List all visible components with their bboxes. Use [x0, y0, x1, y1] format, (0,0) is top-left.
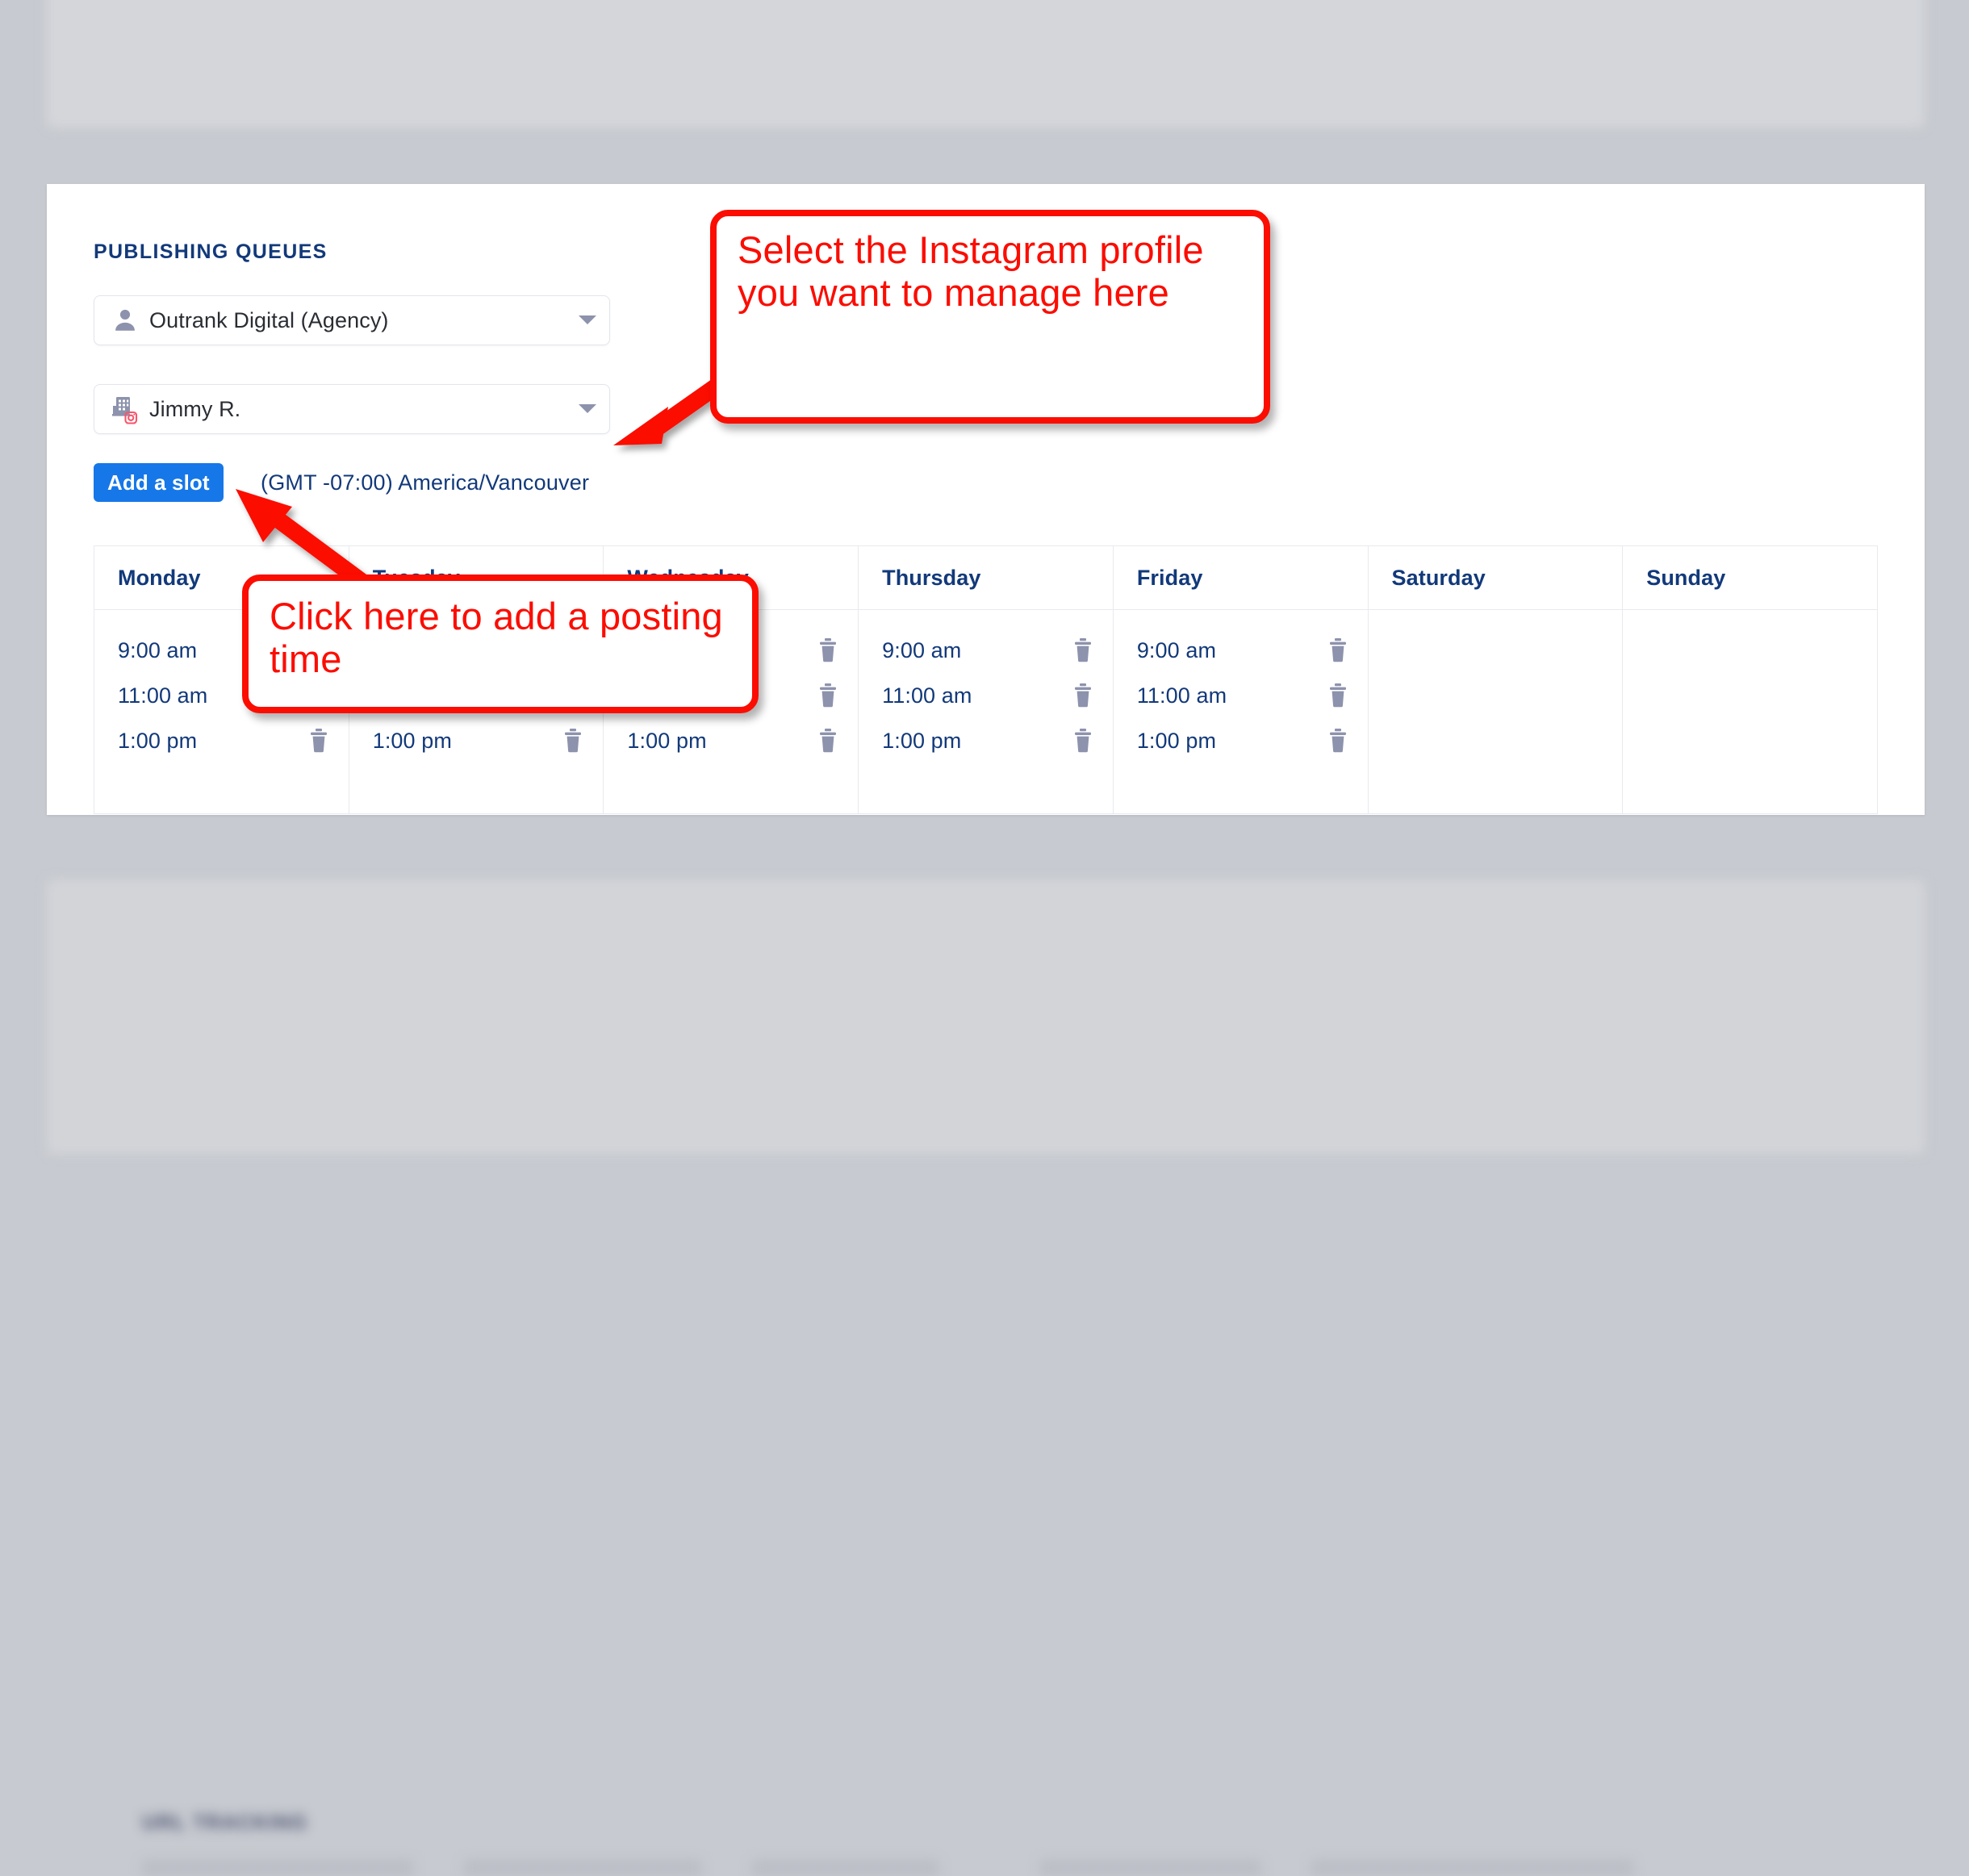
day-cell-sunday — [1623, 610, 1878, 814]
trash-icon[interactable] — [1326, 638, 1350, 662]
trash-icon[interactable] — [816, 638, 840, 662]
building-instagram-icon — [101, 393, 149, 425]
trash-icon[interactable] — [1326, 729, 1350, 753]
column-header-saturday: Saturday — [1368, 546, 1623, 610]
person-icon — [101, 307, 149, 334]
slot-time-label: 1:00 pm — [1137, 729, 1326, 754]
chevron-down-icon[interactable] — [566, 403, 609, 415]
background-card-bottom: URL TRACKING — [47, 880, 1925, 1154]
schedule-slot: 1:00 pm — [349, 718, 604, 763]
background-card-top: Save settings — [47, 0, 1925, 127]
schedule-slot: 1:00 pm — [1114, 718, 1368, 763]
url-tracking-title: URL TRACKING — [142, 1811, 307, 1835]
slot-time-label: 11:00 am — [882, 683, 1071, 708]
schedule-slot: 9:00 am — [1114, 628, 1368, 673]
trash-icon[interactable] — [816, 729, 840, 753]
schedule-slot: 9:00 am — [859, 628, 1113, 673]
slot-time-label: 1:00 pm — [627, 729, 816, 754]
trash-icon[interactable] — [561, 729, 585, 753]
slot-time-label: 9:00 am — [882, 638, 1071, 663]
schedule-slot: 11:00 am — [1114, 673, 1368, 718]
schedule-slot: 1:00 pm — [94, 718, 349, 763]
column-header-sunday: Sunday — [1623, 546, 1878, 610]
profile-select-value: Jimmy R. — [149, 397, 566, 422]
trash-icon[interactable] — [1326, 683, 1350, 708]
slot-time-label: 1:00 pm — [882, 729, 1071, 754]
account-select-value: Outrank Digital (Agency) — [149, 308, 566, 333]
trash-icon[interactable] — [1071, 638, 1095, 662]
url-tracking-body-text — [142, 1860, 1837, 1876]
day-cell-thursday: 9:00 am11:00 am1:00 pm — [859, 610, 1114, 814]
page-title: PUBLISHING QUEUES — [94, 240, 328, 264]
annotation-select-profile: Select the Instagram profile you want to… — [710, 210, 1270, 424]
column-header-friday: Friday — [1113, 546, 1368, 610]
day-cell-saturday — [1368, 610, 1623, 814]
schedule-slot: 1:00 pm — [604, 718, 858, 763]
account-select[interactable]: Outrank Digital (Agency) — [94, 295, 610, 345]
timezone-label: (GMT -07:00) America/Vancouver — [261, 470, 589, 495]
slot-time-label: 11:00 am — [1137, 683, 1326, 708]
trash-icon[interactable] — [1071, 683, 1095, 708]
annotation-add-posting-time: Click here to add a posting time — [242, 574, 759, 713]
slot-time-label: 1:00 pm — [373, 729, 562, 754]
trash-icon[interactable] — [816, 683, 840, 708]
slot-time-label: 1:00 pm — [118, 729, 307, 754]
chevron-down-icon[interactable] — [566, 315, 609, 326]
add-slot-button[interactable]: Add a slot — [94, 463, 224, 502]
schedule-slot: 1:00 pm — [859, 718, 1113, 763]
slot-time-label: 9:00 am — [1137, 638, 1326, 663]
trash-icon[interactable] — [1071, 729, 1095, 753]
day-cell-friday: 9:00 am11:00 am1:00 pm — [1113, 610, 1368, 814]
profile-select[interactable]: Jimmy R. — [94, 384, 610, 434]
trash-icon[interactable] — [307, 729, 331, 753]
column-header-thursday: Thursday — [859, 546, 1114, 610]
schedule-slot: 11:00 am — [859, 673, 1113, 718]
